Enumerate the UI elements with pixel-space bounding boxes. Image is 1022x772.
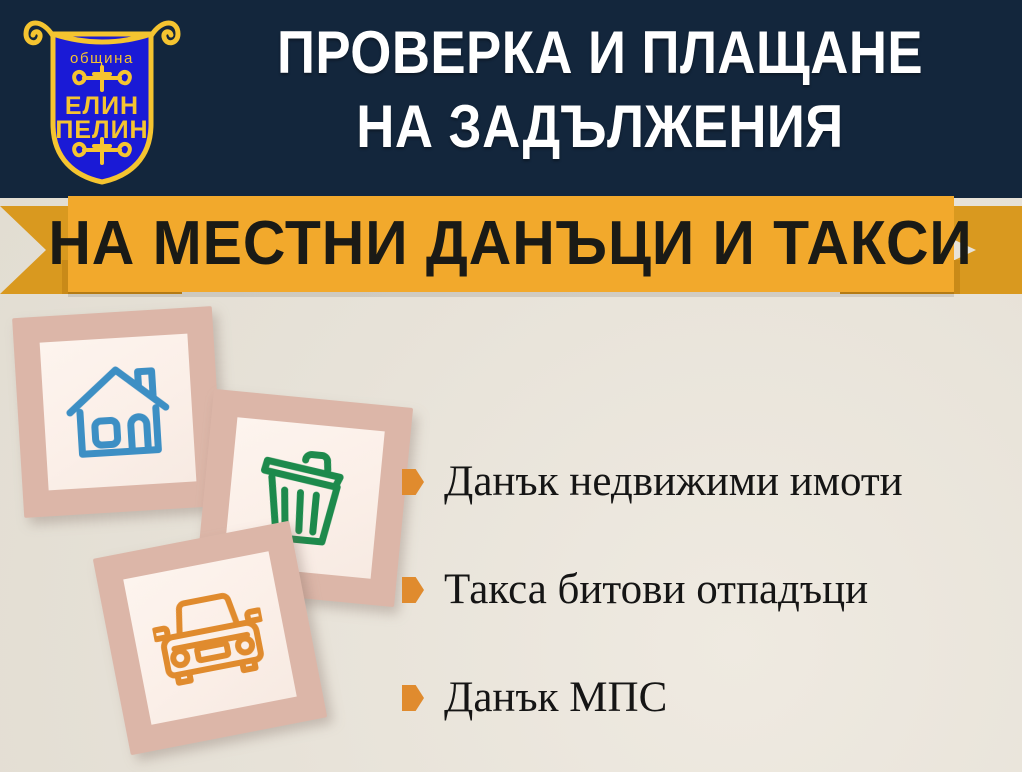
list-item[interactable]: Данък МПС <box>402 644 1012 752</box>
bullet-arrow-icon <box>402 577 424 603</box>
bullet-arrow-icon <box>402 685 424 711</box>
tax-type-list: Данък недвижими имоти Такса битови отпад… <box>402 428 1012 752</box>
emblem-obshtina-label: община <box>70 50 134 67</box>
ribbon-plate: НА МЕСТНИ ДАНЪЦИ И ТАКСИ <box>68 196 954 292</box>
stamp-card-house <box>12 306 224 518</box>
list-item-label: Данък МПС <box>444 674 667 722</box>
ribbon-banner: НА МЕСТНИ ДАНЪЦИ И ТАКСИ <box>0 196 1022 311</box>
emblem-svg: община ЕЛИН ПЕЛИН <box>22 8 182 190</box>
stamp-card-car <box>93 521 327 755</box>
coat-of-arms-emblem: община ЕЛИН ПЕЛИН <box>22 8 182 190</box>
list-item-label: Такса битови отпадъци <box>444 566 868 614</box>
car-front-icon <box>123 551 297 725</box>
list-item[interactable]: Такса битови отпадъци <box>402 536 1012 644</box>
list-item-label: Данък недвижими имоти <box>444 458 903 506</box>
emblem-name-line-2: ПЕЛИН <box>55 116 148 144</box>
list-item[interactable]: Данък недвижими имоти <box>402 428 1012 536</box>
page-title: ПРОВЕРКА И ПЛАЩАНЕ НА ЗАДЪЛЖЕНИЯ <box>239 16 961 164</box>
bullet-arrow-icon <box>402 469 424 495</box>
ribbon-label: НА МЕСТНИ ДАНЪЦИ И ТАКСИ <box>49 213 973 275</box>
house-icon <box>40 334 197 491</box>
poster-canvas: община ЕЛИН ПЕЛИН ПРОВЕРКА И ПЛАЩАНЕ НА … <box>0 0 1022 772</box>
header-bar: община ЕЛИН ПЕЛИН ПРОВЕРКА И ПЛАЩАНЕ НА … <box>0 0 1022 198</box>
